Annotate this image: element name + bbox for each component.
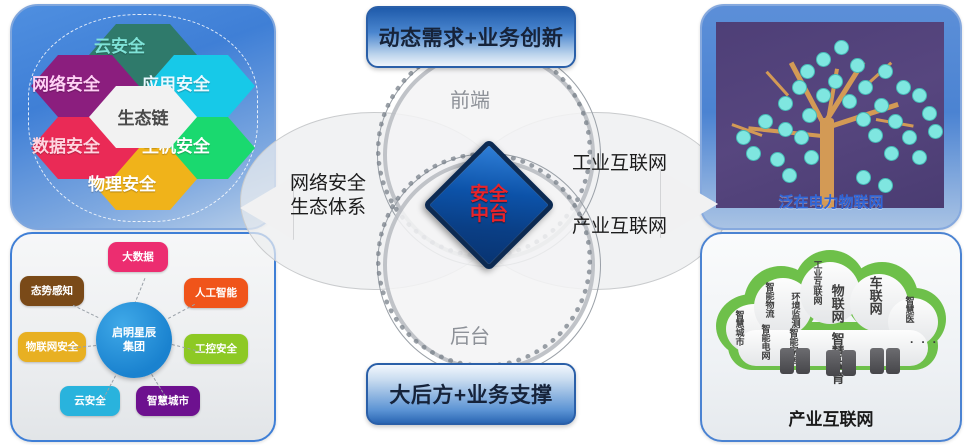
- button-backend-business-support[interactable]: 大后方+业务支撑: [366, 363, 576, 425]
- tree-leaf: [792, 80, 807, 95]
- tree-leaf: [868, 128, 883, 143]
- cloud-tag-smart-medical[interactable]: 智慧医: [904, 296, 913, 323]
- tree-leaf: [816, 52, 831, 67]
- tree-leaf: [778, 96, 793, 111]
- tree-leaf: [804, 150, 819, 165]
- hex-label-cloud-security: 云安全: [94, 32, 145, 57]
- server-rack-icon: [780, 348, 794, 374]
- tree-leaf: [856, 170, 871, 185]
- tree-branch: [765, 71, 789, 97]
- spoke-line: [134, 278, 145, 304]
- tree-leaf: [856, 112, 871, 127]
- spoke-line: [73, 305, 99, 318]
- panel-security-ecosystem: 生态链 云安全 应用安全 主机安全 物理安全 数据安全 网络安全: [10, 4, 276, 230]
- tree-leaf: [778, 122, 793, 137]
- tree-leaf: [828, 74, 843, 89]
- tree-leaf: [782, 168, 797, 183]
- panel-industry-internet-cloud: 智慧城市 智能物流 智能电网 环境监测 智能家居 工业互联网 物联网 智慧教育 …: [700, 232, 962, 442]
- cloud-tag-ellipsis: · · ·: [910, 336, 939, 349]
- cloud-tag-environment-monitoring[interactable]: 环境监测: [790, 292, 799, 328]
- hex-label-data-security: 数据安全: [32, 132, 100, 157]
- cloud-tag-iot[interactable]: 物联网: [830, 284, 844, 323]
- tree-leaf: [922, 106, 937, 121]
- venn-label-backend: 后台: [450, 320, 490, 349]
- node-card-cloud-security[interactable]: 云安全: [60, 386, 120, 416]
- tree-leaf: [912, 88, 927, 103]
- core-diamond-text: 安全 中台: [447, 163, 531, 247]
- tree-leaf: [896, 80, 911, 95]
- node-card-big-data[interactable]: 大数据: [108, 242, 168, 272]
- infographic-canvas: 生态链 云安全 应用安全 主机安全 物理安全 数据安全 网络安全 启明星辰集团 …: [0, 0, 968, 445]
- tree-leaf: [878, 64, 893, 79]
- server-rack-icon: [842, 350, 856, 376]
- cloud-tag-industrial-internet[interactable]: 工业互联网: [812, 260, 821, 305]
- tree-leaf: [736, 130, 751, 145]
- hexagon-diagram: 生态链 云安全 应用安全 主机安全 物理安全 数据安全 网络安全: [36, 12, 250, 222]
- server-rack-icon: [796, 348, 810, 374]
- tree-leaf: [794, 130, 809, 145]
- venn-label-frontend: 前端: [450, 84, 490, 113]
- node-card-situational-awareness[interactable]: 态势感知: [20, 276, 84, 306]
- button-dynamic-demand-innovation[interactable]: 动态需求+业务创新: [366, 6, 576, 68]
- tree-leaf: [802, 108, 817, 123]
- tree-leaf: [884, 146, 899, 161]
- core-line-1: 安全: [470, 185, 508, 205]
- tree-leaf: [902, 130, 917, 145]
- tree-leaf: [800, 64, 815, 79]
- center-venn-diagram: 前端 后台 网络安全 生态体系 工业互联网 产业互联网 安全 中台 动态需求+业…: [274, 0, 692, 445]
- tree-leaf: [816, 88, 831, 103]
- cloud-caption-industry-internet: 产业互联网: [702, 405, 960, 430]
- tree-leaf: [858, 80, 873, 95]
- cloud-tag-smart-logistics[interactable]: 智能物流: [764, 282, 773, 318]
- hub-node-qiming-group[interactable]: 启明星辰集团: [96, 302, 172, 378]
- tree-leaf: [850, 58, 865, 73]
- tree-illustration: [716, 22, 944, 208]
- server-rack-icon: [826, 350, 840, 376]
- hex-label-physical-security: 物理安全: [88, 170, 156, 195]
- cloud-tag-vehicle-network[interactable]: 车联网: [868, 276, 882, 315]
- tree-leaf: [912, 150, 927, 165]
- core-line-2: 中台: [470, 205, 508, 225]
- cloud-illustration: 智慧城市 智能物流 智能电网 环境监测 智能家居 工业互联网 物联网 智慧教育 …: [712, 240, 950, 388]
- tree-leaf: [770, 152, 785, 167]
- tree-leaf: [928, 124, 943, 139]
- label-industrial-internet: 工业互联网: [572, 152, 667, 176]
- server-rack-icon: [886, 348, 900, 374]
- label-line-2: 生态体系: [290, 196, 366, 220]
- tree-leaf: [888, 114, 903, 129]
- tree-leaf: [758, 114, 773, 129]
- tree-leaf: [842, 94, 857, 109]
- panel-group-capability: 启明星辰集团 大数据 人工智能 工控安全 智慧城市 云安全 物联网安全 态势感知: [10, 232, 276, 442]
- server-rack-icon: [870, 348, 884, 374]
- label-line-1: 网络安全: [290, 172, 366, 196]
- tree-leaf: [834, 40, 849, 55]
- cloud-tag-smart-city[interactable]: 智慧城市: [734, 310, 743, 346]
- cloud-tag-smart-grid[interactable]: 智能电网: [760, 324, 769, 360]
- hex-center-label: 生态链: [89, 104, 197, 129]
- label-network-security-ecosystem: 网络安全 生态体系: [290, 172, 366, 220]
- tree-leaf: [874, 98, 889, 113]
- label-industry-internet: 产业互联网: [572, 215, 667, 239]
- hub-label: 启明星辰集团: [112, 326, 156, 355]
- tree-caption-ubiquitous-power-iot: 泛在电力物联网: [702, 191, 960, 212]
- spoke-line: [168, 304, 195, 319]
- tree-leaf: [746, 146, 761, 161]
- hex-label-network-security: 网络安全: [32, 70, 100, 95]
- panel-power-iot-tree: 泛在电力物联网: [700, 4, 962, 230]
- node-card-smart-city[interactable]: 智慧城市: [136, 386, 200, 416]
